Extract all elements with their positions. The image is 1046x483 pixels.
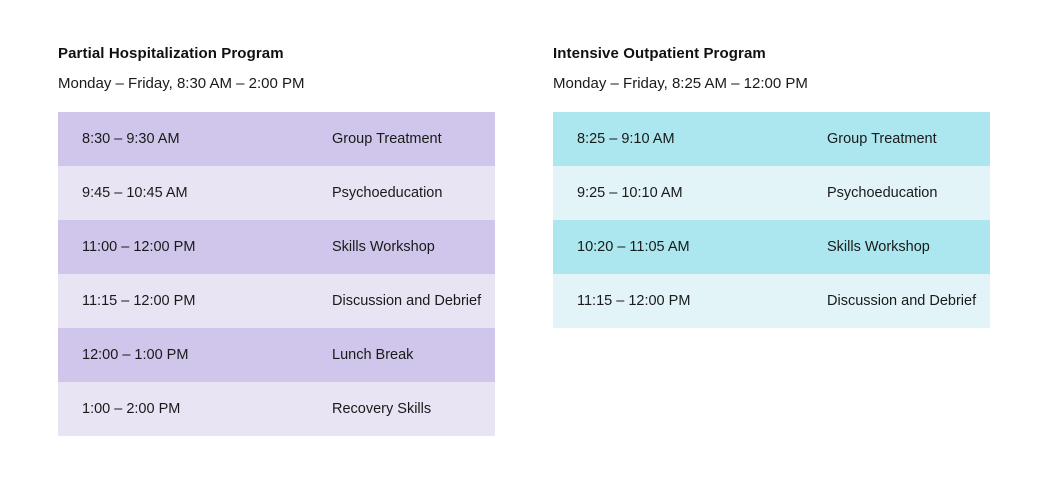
cell-activity: Psychoeducation: [332, 166, 495, 220]
table-row: 8:30 – 9:30 AM Group Treatment: [58, 112, 495, 166]
schedule-table-body: 8:25 – 9:10 AM Group Treatment 9:25 – 10…: [553, 112, 990, 328]
cell-activity: Discussion and Debrief: [827, 274, 990, 328]
table-row: 11:15 – 12:00 PM Discussion and Debrief: [58, 274, 495, 328]
cell-activity: Recovery Skills: [332, 382, 495, 436]
table-row: 9:25 – 10:10 AM Psychoeducation: [553, 166, 990, 220]
cell-time: 12:00 – 1:00 PM: [58, 328, 332, 382]
cell-activity: Discussion and Debrief: [332, 274, 495, 328]
cell-time: 9:25 – 10:10 AM: [553, 166, 827, 220]
schedule-table-intensive-outpatient: 8:25 – 9:10 AM Group Treatment 9:25 – 10…: [553, 112, 990, 328]
table-row: 10:20 – 11:05 AM Skills Workshop: [553, 220, 990, 274]
cell-time: 1:00 – 2:00 PM: [58, 382, 332, 436]
schedule-table-body: 8:30 – 9:30 AM Group Treatment 9:45 – 10…: [58, 112, 495, 436]
cell-time: 9:45 – 10:45 AM: [58, 166, 332, 220]
cell-activity: Lunch Break: [332, 328, 495, 382]
cell-time: 8:25 – 9:10 AM: [553, 112, 827, 166]
cell-activity: Skills Workshop: [332, 220, 495, 274]
schedule-page: Partial Hospitalization Program Monday –…: [0, 0, 1046, 483]
cell-time: 10:20 – 11:05 AM: [553, 220, 827, 274]
table-row: 12:00 – 1:00 PM Lunch Break: [58, 328, 495, 382]
cell-time: 11:00 – 12:00 PM: [58, 220, 332, 274]
program-title-intensive-outpatient: Intensive Outpatient Program: [553, 45, 1046, 63]
program-subtitle-intensive-outpatient: Monday – Friday, 8:25 AM – 12:00 PM: [553, 75, 1046, 93]
table-row: 9:45 – 10:45 AM Psychoeducation: [58, 166, 495, 220]
table-row: 11:15 – 12:00 PM Discussion and Debrief: [553, 274, 990, 328]
cell-activity: Group Treatment: [332, 112, 495, 166]
table-row: 1:00 – 2:00 PM Recovery Skills: [58, 382, 495, 436]
program-title-partial-hospitalization: Partial Hospitalization Program: [58, 45, 495, 63]
table-row: 11:00 – 12:00 PM Skills Workshop: [58, 220, 495, 274]
schedule-table-partial-hospitalization: 8:30 – 9:30 AM Group Treatment 9:45 – 10…: [58, 112, 495, 436]
program-subtitle-partial-hospitalization: Monday – Friday, 8:30 AM – 2:00 PM: [58, 75, 495, 93]
cell-time: 8:30 – 9:30 AM: [58, 112, 332, 166]
cell-time: 11:15 – 12:00 PM: [58, 274, 332, 328]
program-intensive-outpatient: Intensive Outpatient Program Monday – Fr…: [495, 45, 1046, 483]
program-partial-hospitalization: Partial Hospitalization Program Monday –…: [0, 45, 495, 483]
cell-activity: Psychoeducation: [827, 166, 990, 220]
table-row: 8:25 – 9:10 AM Group Treatment: [553, 112, 990, 166]
cell-activity: Group Treatment: [827, 112, 990, 166]
cell-time: 11:15 – 12:00 PM: [553, 274, 827, 328]
cell-activity: Skills Workshop: [827, 220, 990, 274]
